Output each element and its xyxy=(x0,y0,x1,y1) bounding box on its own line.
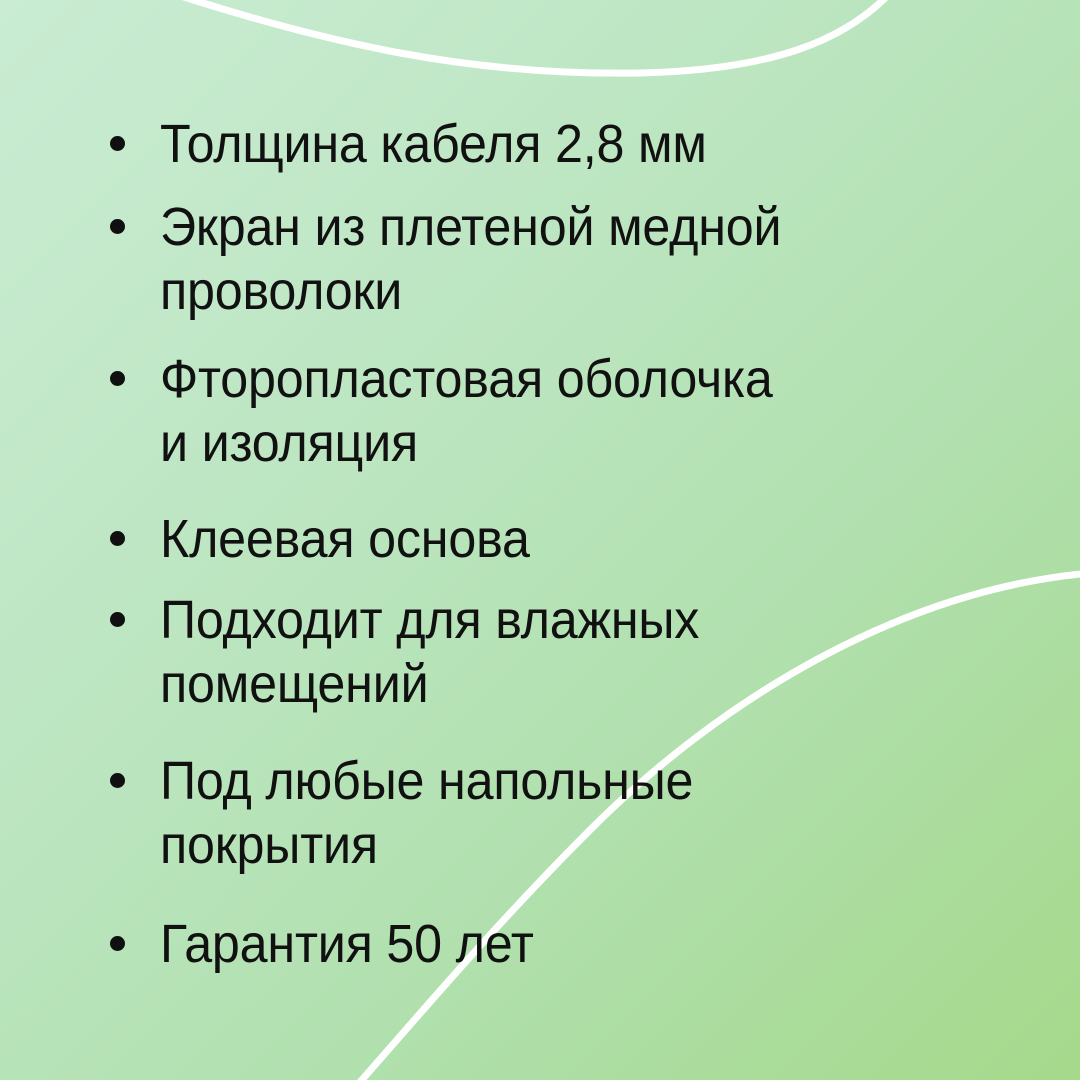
list-item: Фторопластовая оболочка и изоляция xyxy=(110,348,990,475)
feature-text: Толщина кабеля 2,8 мм xyxy=(160,113,932,177)
bullet-dot-icon xyxy=(110,136,125,151)
bullet-dot-icon xyxy=(110,531,125,546)
feature-text: Клеевая основа xyxy=(160,508,932,572)
product-feature-slide: Толщина кабеля 2,8 мм Экран из плетеной … xyxy=(0,0,1080,1080)
feature-text: Под любые напольные покрытия xyxy=(160,750,932,877)
bullet-dot-icon xyxy=(110,773,125,788)
bullet-dot-icon xyxy=(110,936,125,951)
list-item: Экран из плетеной медной проволоки xyxy=(110,196,990,323)
list-item: Клеевая основа xyxy=(110,508,990,572)
list-item: Толщина кабеля 2,8 мм xyxy=(110,113,990,177)
bullet-dot-icon xyxy=(110,371,125,386)
list-item: Под любые напольные покрытия xyxy=(110,750,990,877)
feature-text: Гарантия 50 лет xyxy=(160,913,932,977)
list-item: Подходит для влажных помещений xyxy=(110,589,990,716)
bullet-dot-icon xyxy=(110,612,125,627)
bullet-dot-icon xyxy=(110,219,125,234)
list-item: Гарантия 50 лет xyxy=(110,913,990,977)
feature-text: Экран из плетеной медной проволоки xyxy=(160,196,932,323)
feature-text: Фторопластовая оболочка и изоляция xyxy=(160,348,932,475)
feature-text: Подходит для влажных помещений xyxy=(160,589,932,716)
